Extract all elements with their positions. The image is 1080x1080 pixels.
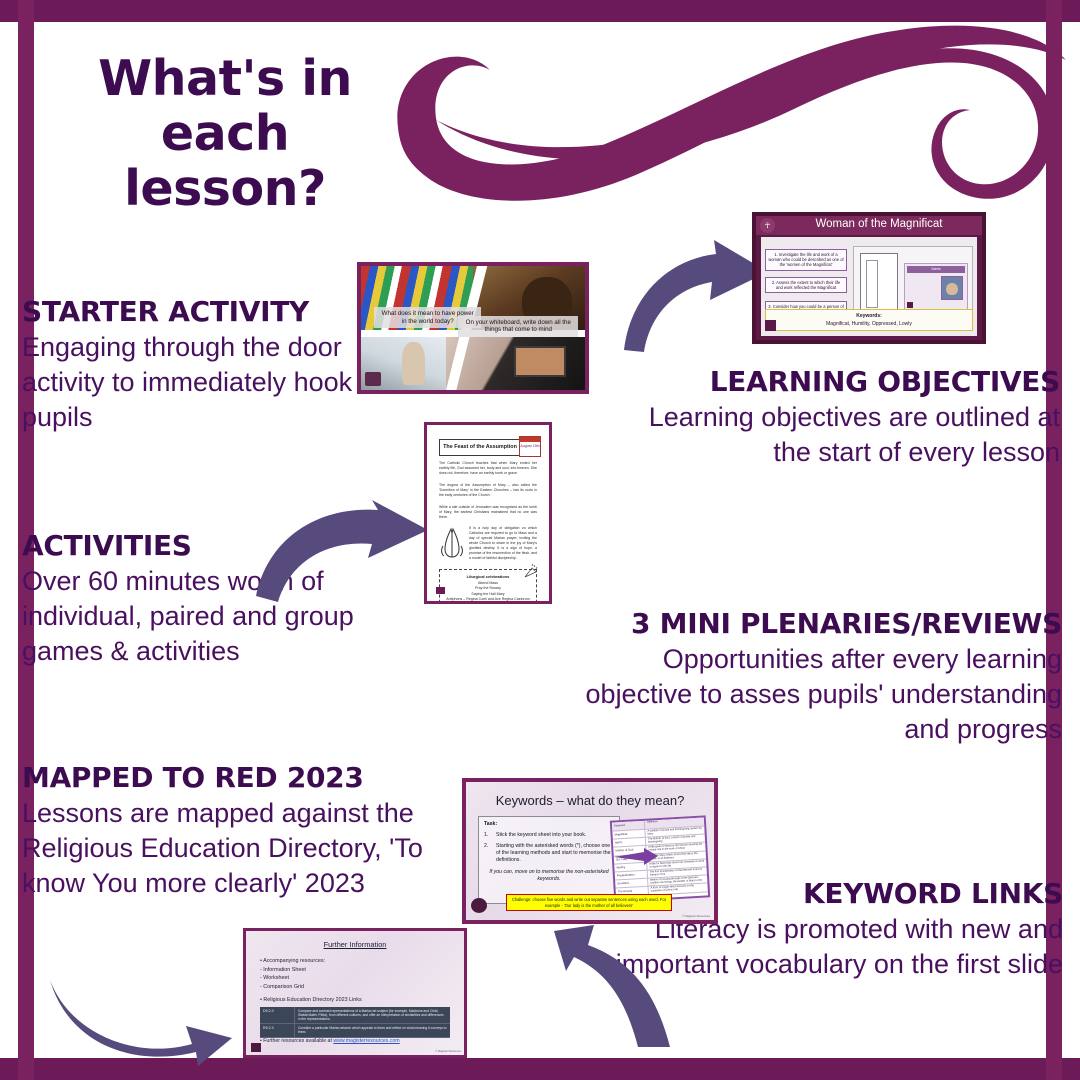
section-heading-activities: ACTIVITIES [22,530,442,562]
further-info-credit: © Magister Resources [435,1050,461,1053]
section-activities: ACTIVITIES Over 60 minutes worth of indi… [22,530,442,669]
pointer-arrow-icon [614,848,658,866]
keywords-task-1-number: 1. [484,832,492,839]
frame-bottom-bar [0,1058,1080,1080]
worksheet-paragraph-3: While a site outside of Jerusalem was re… [439,505,537,520]
keywords-task-2-text: Starting with the asterisked words (*), … [496,843,614,864]
keywords-slide-credit: © Magister Resources [682,914,710,918]
worksheet-liturgical-box: Liturgical celebrations Attend Mass Pray… [439,569,537,604]
keywords-slide-title: Keywords – what do they mean? [466,793,714,808]
calendar-date-label: August 15th [520,444,540,448]
keywords-challenge-banner: Challenge: choose five words and write o… [506,894,672,911]
further-info-logo [251,1043,261,1052]
further-info-code-cell: D9.2.3 [260,1007,295,1023]
section-mini-plenaries: 3 MINI PLENARIES/REVIEWS Opportunities a… [572,608,1062,747]
thumbnail-starter-activity-slide[interactable]: What does it mean to have power in the w… [357,262,589,394]
magnificat-slide-title: Woman of the Magnificat [780,218,978,230]
thumbnail-further-information-slide[interactable]: Further Information • Accompanying resou… [243,928,467,1058]
section-starter-activity: STARTER ACTIVITY Engaging through the do… [22,296,382,435]
further-info-sub-item: - Worksheet [260,974,325,983]
further-info-bullet-main: • Accompanying resources: [260,957,325,966]
magnificat-objective-1: 1. Investigate the life and work of a wo… [765,249,847,271]
magnificat-sub-slide-title: Saints [907,266,965,273]
section-learning-objectives: LEARNING OBJECTIVES Learning objectives … [640,366,1060,470]
magnificat-keywords-label: Keywords: [856,313,882,319]
magnificat-sub-marker [907,302,913,308]
further-info-code-cell: R9.2.3 [260,1024,295,1036]
calendar-icon: August 15th [519,436,541,457]
keywords-task-item-2: 2. Starting with the asterisked words (*… [484,843,614,864]
magnificat-keywords-list: Magnificat, Humility, Oppressed, Lowly [826,321,912,327]
collage-logo [365,372,381,386]
collage-image: What does it mean to have power in the w… [361,266,585,390]
magnificat-sub-slide: Saints [904,263,968,311]
magnificat-document-thumb [860,253,898,313]
worksheet-box-list: Attend Mass Pray the Rosary Saying the H… [440,581,536,603]
keywords-slide-logo [471,898,487,913]
poster-canvas: What's in each lesson? STARTER ACTIVITY … [0,0,1080,1080]
collage-caption-2: On your whiteboard, write down all the t… [458,316,578,338]
worksheet-paragraph-1: The Catholic Church teaches that when Ma… [439,461,537,476]
keywords-task-1-text: Stick the keyword sheet into your book. [496,832,586,839]
magnificat-logo [765,320,776,331]
further-info-red-links-label: • Religious Education Directory 2023 Lin… [260,997,362,1003]
section-heading-plenaries: 3 MINI PLENARIES/REVIEWS [572,608,1062,640]
worksheet-box-item: Antiphons – Regina Coeli and Ave Regina … [440,597,536,602]
page-title: What's in each lesson? [60,52,390,217]
lamb-badge-icon: ☥ [760,218,775,233]
further-info-bullet-main-label: Accompanying resources: [263,958,325,964]
thumbnail-learning-objectives-slide[interactable]: ☥ Woman of the Magnificat 1. Investigate… [752,212,986,344]
thumbnail-activities-worksheet[interactable]: The Feast of the Assumption August 15th … [424,422,552,604]
magnificat-keywords-box: Keywords: Magnificat, Humility, Oppresse… [765,309,973,331]
section-body-objectives: Learning objectives are outlined at the … [640,400,1060,470]
magnificat-objective-2: 2. Assess the extent to which their life… [765,277,847,293]
further-info-table-row: D9.2.3Compare and contrast representatio… [260,1007,450,1024]
worksheet-paragraph-2: The dogma of the Assumption of Mary – al… [439,483,537,498]
section-body-activities: Over 60 minutes worth of individual, pai… [22,564,442,669]
further-info-title: Further Information [246,940,464,949]
worksheet-box-title: Liturgical celebrations [440,574,536,579]
decorative-swoosh [380,8,1080,238]
further-info-footer-text: Further resources available at [263,1038,333,1044]
section-body-plenaries: Opportunities after every learning objec… [572,642,1062,747]
further-info-description-cell: Consider a particular Marian artwork whi… [295,1024,450,1036]
section-mapped-to-red: MAPPED TO RED 2023 Lessons are mapped ag… [22,762,452,901]
section-heading-objectives: LEARNING OBJECTIVES [640,366,1060,398]
further-info-footer-link[interactable]: www.magisterresources.com [333,1038,399,1044]
section-body-mapped: Lessons are mapped against the Religious… [22,796,452,901]
frame-top-bar [0,0,1080,22]
section-body-starter: Engaging through the door activity to im… [22,330,382,435]
keywords-task-item-1: 1. Stick the keyword sheet into your boo… [484,832,614,839]
keywords-task-label: Task: [484,821,497,827]
keywords-task-2-number: 2. [484,843,492,864]
further-info-footer: • Further resources available at www.mag… [260,1038,400,1044]
curved-arrow-right-lower-icon [46,968,236,1068]
magnificat-portrait-image [941,276,963,300]
further-info-sub-item: - Information Sheet [260,966,325,975]
further-info-table-row: R9.2.3Consider a particular Marian artwo… [260,1024,450,1037]
further-info-sub-item: - Comparison Grid [260,983,325,992]
section-heading-starter: STARTER ACTIVITY [22,296,382,328]
worksheet-logo [436,587,445,594]
keywords-task-note: If you can, move on to memorise the non-… [484,869,614,883]
further-info-description-cell: Compare and contrast representations of … [295,1007,450,1023]
worksheet-paragraph-4: It is a holy day of obligation on which … [469,526,537,561]
magnificat-slide-body: 1. Investigate the life and work of a wo… [761,237,977,336]
further-info-resource-list: • Accompanying resources: - Information … [260,957,325,992]
further-info-red-table: D9.2.3Compare and contrast representatio… [260,1007,450,1038]
worksheet-page: The Feast of the Assumption August 15th … [431,429,545,597]
worksheet-banner-title: The Feast of the Assumption [439,439,521,456]
section-heading-mapped: MAPPED TO RED 2023 [22,762,452,794]
further-info-red-links-text: Religious Education Directory 2023 Links [263,997,361,1003]
keywords-task-box: Task: 1. Stick the keyword sheet into yo… [478,816,620,904]
thumbnail-keywords-slide[interactable]: Keywords – what do they mean? Task: 1. S… [462,778,718,924]
praying-hands-icon [440,527,464,559]
